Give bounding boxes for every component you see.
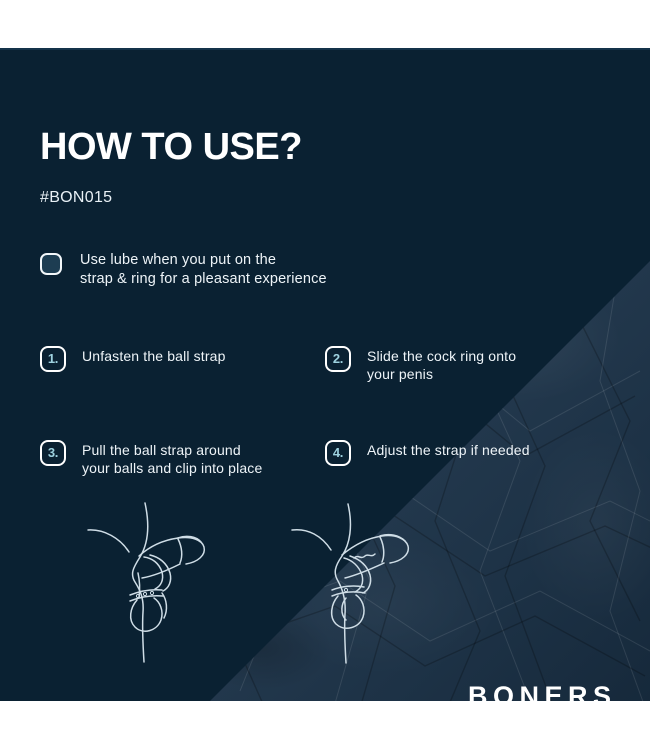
page-title: HOW TO USE? — [40, 126, 302, 168]
step-number-badge: 1. — [40, 346, 66, 372]
steps-list: 1. Unfasten the ball strap 2. Slide the … — [40, 345, 612, 477]
step-text: Unfasten the ball strap — [82, 345, 226, 365]
poster-canvas: HOW TO USE? #BON015 Use lube when you pu… — [0, 0, 650, 750]
lube-tip: Use lube when you put on the strap & rin… — [40, 251, 327, 289]
product-code: #BON015 — [40, 188, 112, 208]
step-number-badge: 3. — [40, 440, 66, 466]
step-text: Slide the cock ring onto your penis — [367, 345, 516, 383]
step-item-2: 2. Slide the cock ring onto your penis — [325, 345, 610, 383]
panel-top-edge — [0, 48, 650, 50]
step-item-4: 4. Adjust the strap if needed — [325, 439, 610, 477]
instruction-panel: HOW TO USE? #BON015 Use lube when you pu… — [0, 48, 650, 701]
brand-logo: BONERS — [468, 681, 617, 701]
lube-tip-text: Use lube when you put on the strap & rin… — [80, 251, 327, 289]
rounded-square-icon — [40, 253, 62, 275]
step-item-1: 1. Unfasten the ball strap — [40, 345, 325, 383]
step-number-badge: 4. — [325, 440, 351, 466]
step-item-3: 3. Pull the ball strap around your balls… — [40, 439, 325, 477]
step-diagram-ring-fastened — [288, 500, 438, 665]
step-text: Pull the ball strap around your balls an… — [82, 439, 262, 477]
step-diagram-ring-unfastened — [82, 500, 232, 665]
step-text: Adjust the strap if needed — [367, 439, 530, 459]
step-number-badge: 2. — [325, 346, 351, 372]
